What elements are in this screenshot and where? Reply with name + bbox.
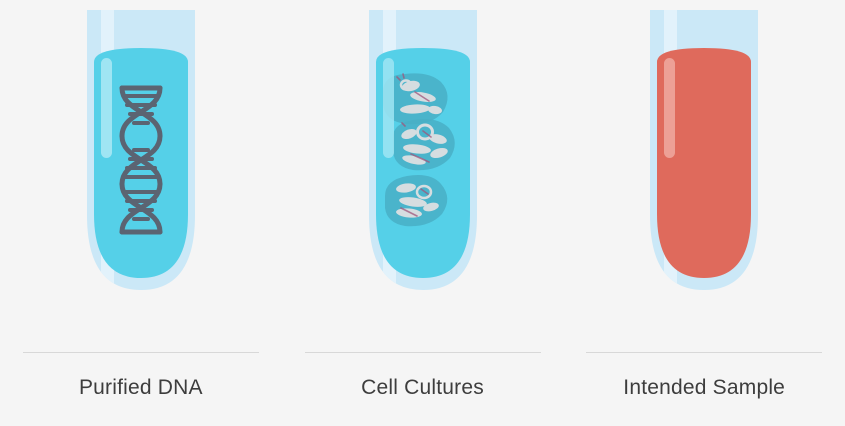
tube-liquid	[94, 48, 188, 280]
sample-comparison-board: Purified DNA	[0, 0, 845, 426]
panel-divider	[23, 352, 259, 353]
tube-liquid	[376, 48, 470, 280]
panel-divider	[305, 352, 541, 353]
tube-area-cell-cultures	[282, 0, 564, 352]
caption-cell-cultures: Cell Cultures	[282, 376, 564, 400]
test-tube-purified-dna[interactable]	[61, 0, 221, 300]
test-tube-cell-cultures[interactable]	[343, 0, 503, 300]
panel-cell-cultures: Cell Cultures	[282, 0, 564, 426]
test-tube-intended-sample[interactable]	[624, 0, 784, 300]
panel-purified-dna: Purified DNA	[0, 0, 282, 426]
liquid-highlight-stripe	[101, 58, 112, 158]
tube-area-purified-dna	[0, 0, 282, 352]
panel-divider	[586, 352, 822, 353]
tube-liquid	[657, 48, 751, 280]
panel-intended-sample: Intended Sample	[563, 0, 845, 426]
caption-intended-sample: Intended Sample	[563, 376, 845, 400]
liquid-highlight-stripe	[664, 58, 675, 158]
tube-area-intended-sample	[563, 0, 845, 352]
liquid-highlight-stripe	[383, 58, 394, 158]
caption-purified-dna: Purified DNA	[0, 376, 282, 400]
